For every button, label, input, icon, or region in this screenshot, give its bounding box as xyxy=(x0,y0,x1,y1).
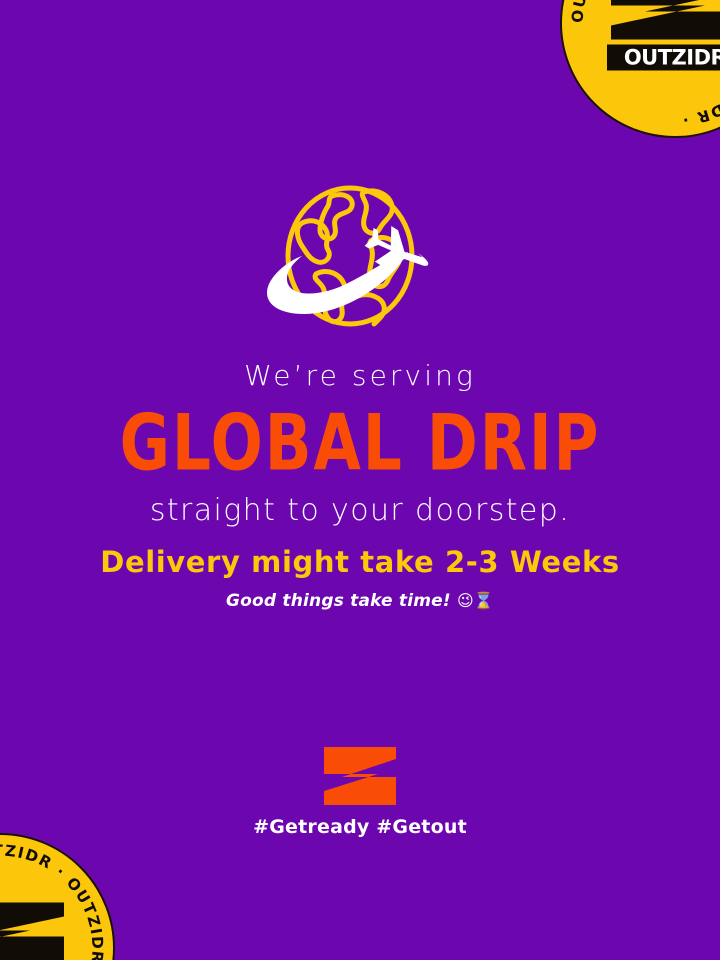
globe-with-airplane-icon xyxy=(240,178,480,338)
subline-text: straight to your doorstep. xyxy=(0,496,720,526)
headline-text: GLOBAL DRIP xyxy=(25,406,695,481)
badge-z-glyph-top-right xyxy=(607,0,720,42)
wink-hourglass-emoji: 😉⌛ xyxy=(457,591,494,610)
outzidr-z-logo-icon xyxy=(320,745,400,807)
badge-core-bottom-left: OUTZIDR xyxy=(0,901,68,960)
promo-poster: We’re serving GLOBAL DRIP straight to yo… xyxy=(0,0,720,960)
delivery-block: Delivery might take 2-3 Weeks Good thing… xyxy=(0,548,720,610)
badge-wordmark-top-right: OUTZIDR xyxy=(607,45,720,71)
badge-z-glyph-bottom-left xyxy=(0,901,68,960)
badge-core-top-right: OUTZIDR xyxy=(607,0,720,71)
outzidr-badge-top-right: OUTZIDR · OUTZIDR · OUTZIDR · OUTZIDR · … xyxy=(560,0,720,138)
hashtags-text: #Getready #Getout xyxy=(0,818,720,837)
delivery-reassurance-text: Good things take time! xyxy=(226,591,451,611)
badge-wordmark-text-top-right: OUTZIDR xyxy=(624,47,720,68)
kicker-text: We’re serving xyxy=(0,362,720,390)
delivery-notice-text: Delivery might take 2-3 Weeks xyxy=(0,548,720,577)
footer-block: #Getready #Getout xyxy=(0,745,720,837)
outzidr-badge-bottom-left: OUTZIDR · OUTZIDR · OUTZIDR · OUTZIDR · … xyxy=(0,833,115,960)
headline-block: We’re serving GLOBAL DRIP straight to yo… xyxy=(0,362,720,526)
delivery-reassurance-row: Good things take time! 😉⌛ xyxy=(0,593,720,610)
globe-illustration-wrapper xyxy=(0,178,720,338)
